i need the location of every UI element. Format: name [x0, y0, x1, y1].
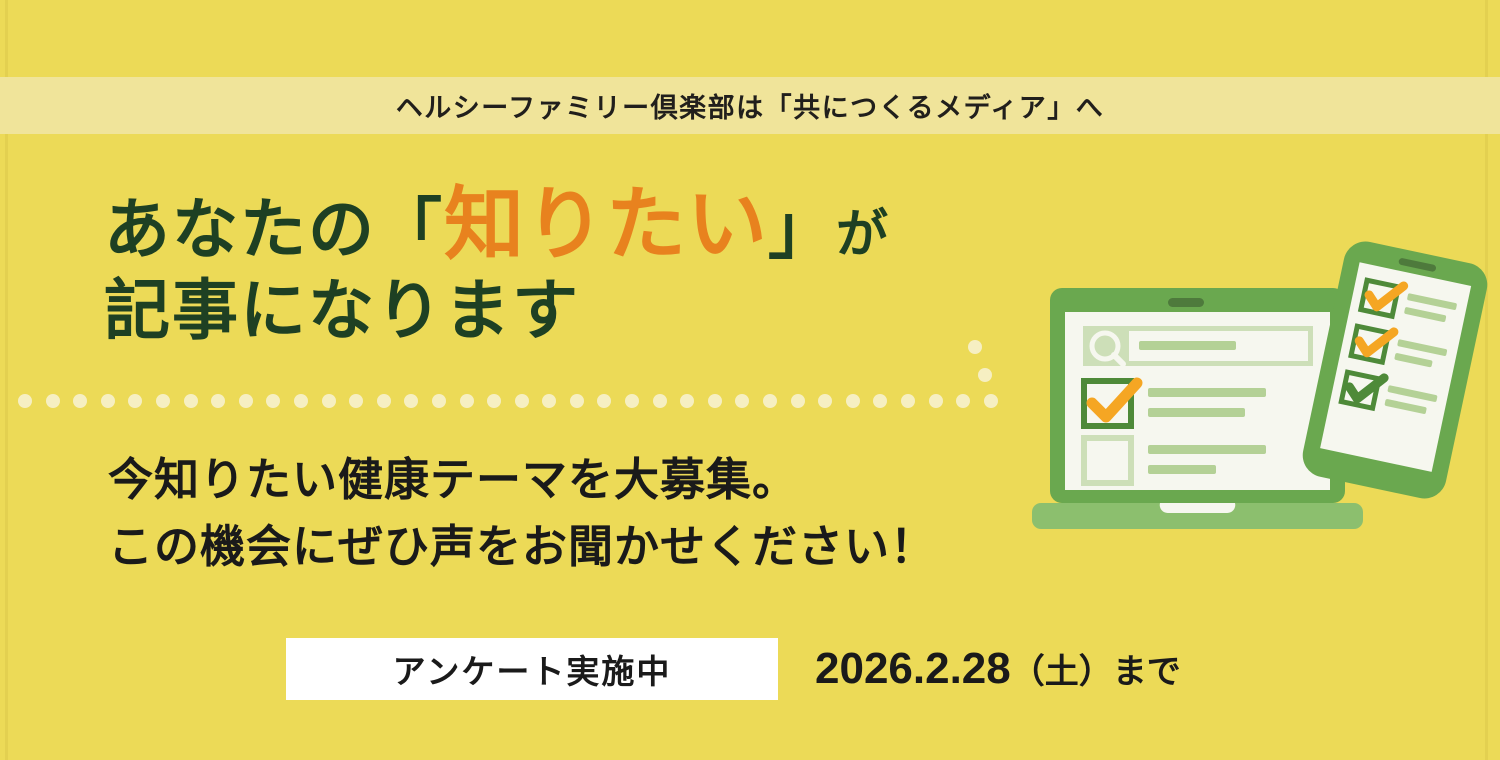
divider-dot	[239, 394, 253, 408]
headline-particle: が	[836, 206, 890, 264]
promo-banner: ヘルシーファミリー倶楽部は「共につくるメディア」へ あなたの「知りたい」が 記事…	[0, 0, 1500, 760]
divider-dot	[597, 394, 611, 408]
divider-dot	[377, 394, 391, 408]
divider-dot	[460, 394, 474, 408]
divider-dot	[873, 394, 887, 408]
divider-dot	[984, 394, 998, 408]
headline-open-bracket: 「	[376, 192, 444, 266]
body-line-2: この機会にぜひ声をお聞かせください！	[108, 514, 936, 581]
body-line-1: 今知りたい健康テーマを大募集。	[108, 447, 936, 514]
cta-row: アンケート実施中 2026.2.28（土）まで	[286, 638, 1181, 700]
divider-dot	[487, 394, 501, 408]
divider-dot	[818, 394, 832, 408]
smartphone-illustration	[1299, 240, 1490, 503]
floating-dot-2	[978, 368, 992, 382]
divider-dot	[763, 394, 777, 408]
ribbon-text: ヘルシーファミリー倶楽部は「共につくるメディア」へ	[396, 86, 1104, 125]
deadline-text: 2026.2.28（土）まで	[815, 644, 1181, 694]
divider-dot	[266, 394, 280, 408]
body-copy-block: 今知りたい健康テーマを大募集。 この機会にぜひ声をお聞かせください！	[108, 447, 936, 580]
divider-dot	[432, 394, 446, 408]
divider-dot	[18, 394, 32, 408]
divider-dot	[46, 394, 60, 408]
divider-dot	[708, 394, 722, 408]
divider-dot	[184, 394, 198, 408]
divider-dot	[653, 394, 667, 408]
divider-dot	[680, 394, 694, 408]
divider-dot	[73, 394, 87, 408]
divider-dot	[211, 394, 225, 408]
divider-dot	[322, 394, 336, 408]
survey-status-badge[interactable]: アンケート実施中	[286, 638, 778, 700]
headline-accent-text: 知りたい	[444, 180, 768, 269]
divider-dot	[542, 394, 556, 408]
headline-line-2: 記事になります	[104, 272, 1004, 350]
divider-dot	[101, 394, 115, 408]
deadline-suffix: まで	[1113, 653, 1181, 691]
divider-dot	[625, 394, 639, 408]
headline-lead-text: あなたの	[104, 192, 376, 266]
divider-dot	[735, 394, 749, 408]
top-ribbon: ヘルシーファミリー倶楽部は「共につくるメディア」へ	[0, 77, 1500, 134]
survey-devices-illustration	[1020, 240, 1490, 540]
divider-dot	[846, 394, 860, 408]
deadline-day-of-week: （土）	[1011, 653, 1113, 691]
deadline-date: 2026.2.28	[815, 644, 1011, 693]
divider-dot	[128, 394, 142, 408]
headline-block: あなたの「知りたい」が 記事になります	[104, 178, 1004, 350]
headline-close-bracket: 」	[768, 192, 836, 266]
survey-status-badge-label: アンケート実施中	[393, 645, 672, 693]
divider-dot	[791, 394, 805, 408]
headline-line-1: あなたの「知りたい」が	[104, 178, 1004, 272]
divider-dot	[901, 394, 915, 408]
divider-dot	[570, 394, 584, 408]
dotted-divider	[18, 392, 998, 410]
divider-dot	[956, 394, 970, 408]
divider-dot	[294, 394, 308, 408]
floating-dot-1	[968, 340, 982, 354]
divider-dot	[929, 394, 943, 408]
divider-dot	[404, 394, 418, 408]
divider-dot	[349, 394, 363, 408]
divider-dot	[156, 394, 170, 408]
divider-dot	[515, 394, 529, 408]
